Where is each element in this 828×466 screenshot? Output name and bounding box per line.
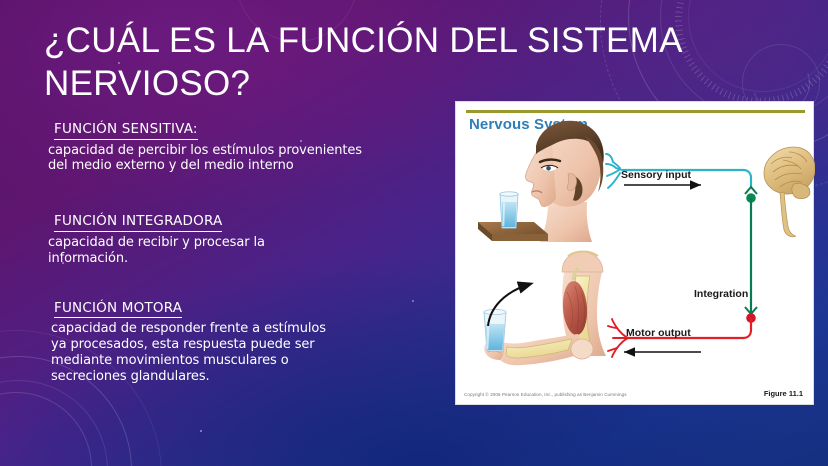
section-body-motora: capacidad de responder frente a estímulo… [51,321,440,384]
figure-label-integration: Integration [694,288,748,300]
figure-inner: Nervous System [456,102,813,404]
figure-number: Figure 11.1 [764,389,803,398]
figure-copyright: Copyright © 2006 Pearson Education, Inc.… [464,392,627,397]
figure-label-sensory-input: Sensory input [621,169,691,181]
section-sensitiva: FUNCIÓN SENSITIVA: capacidad de percibir… [48,118,440,174]
decorative-ring-top-right-3 [688,0,828,92]
glass-on-table-illustration [478,192,548,241]
glass-in-hand-illustration [484,309,506,351]
section-heading-integradora: FUNCIÓN INTEGRADORA [54,213,222,232]
decorative-ring-bottom-left-2 [0,380,108,466]
figure-label-motor-output: Motor output [626,327,691,339]
section-body-integradora: capacidad de recibir y procesar la infor… [48,235,440,267]
section-heading-sensitiva: FUNCIÓN SENSITIVA: [54,121,198,140]
section-spacer-2 [48,271,440,297]
slide-canvas: ¿CUÁL ES LA FUNCIÓN DEL SISTEMA NERVIOSO… [0,0,828,466]
slide-title: ¿CUÁL ES LA FUNCIÓN DEL SISTEMA NERVIOSO… [44,20,704,105]
body-text-column: FUNCIÓN SENSITIVA: capacidad de percibir… [48,118,440,389]
head-illustration [526,121,604,242]
brain-illustration [764,147,815,237]
section-integradora: FUNCIÓN INTEGRADORA capacidad de recibir… [48,210,440,266]
section-motora: FUNCIÓN MOTORA capacidad de responder fr… [48,297,440,385]
sensory-terminal-fork [745,187,757,194]
section-heading-motora: FUNCIÓN MOTORA [54,300,182,319]
figure-diagram-svg [456,102,815,406]
nervous-system-figure: Nervous System [455,101,814,405]
section-spacer-1 [48,178,440,210]
decorative-spark-5 [200,430,202,432]
section-body-sensitiva: capacidad de percibir los estímulos prov… [48,143,440,175]
